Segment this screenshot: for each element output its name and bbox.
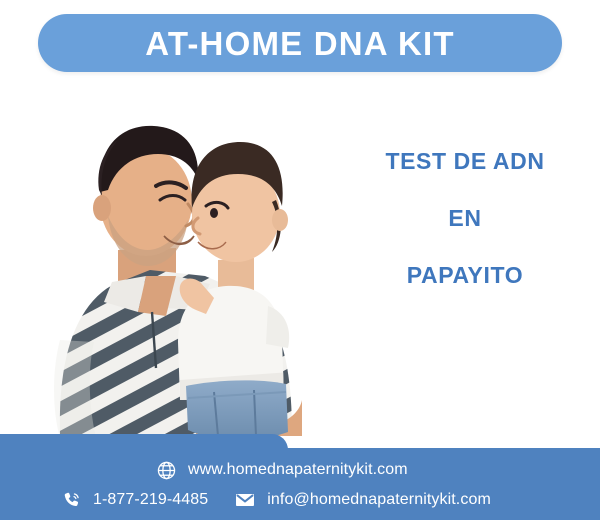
page-title: AT-HOME DNA KIT: [145, 27, 454, 60]
poster: AT-HOME DNA KIT: [0, 0, 600, 520]
footer-bar: www.homednapaternitykit.com 1-877-219-44…: [0, 434, 600, 520]
header-banner: AT-HOME DNA KIT: [38, 14, 562, 72]
family-photo: [0, 80, 345, 460]
email-label: info@homednapaternitykit.com: [267, 492, 491, 508]
headline-line-3: PAPAYITO: [345, 264, 585, 287]
headline-line-1: TEST DE ADN: [345, 150, 585, 173]
headline-line-2: EN: [345, 207, 585, 230]
envelope-icon: [234, 489, 256, 511]
footer-contact-row: 1-877-219-4485 info@homednapaternitykit.…: [60, 489, 491, 511]
headline-block: TEST DE ADN EN PAPAYITO: [345, 150, 585, 287]
website-label: www.homednapaternitykit.com: [188, 462, 408, 478]
footer-website-row: www.homednapaternitykit.com: [155, 459, 408, 481]
phone-label: 1-877-219-4485: [93, 492, 208, 508]
phone-item[interactable]: 1-877-219-4485: [60, 489, 208, 511]
email-item[interactable]: info@homednapaternitykit.com: [234, 489, 491, 511]
footer-content: www.homednapaternitykit.com 1-877-219-44…: [0, 434, 600, 520]
website-item[interactable]: www.homednapaternitykit.com: [155, 459, 408, 481]
phone-icon: [60, 489, 82, 511]
globe-icon: [155, 459, 177, 481]
